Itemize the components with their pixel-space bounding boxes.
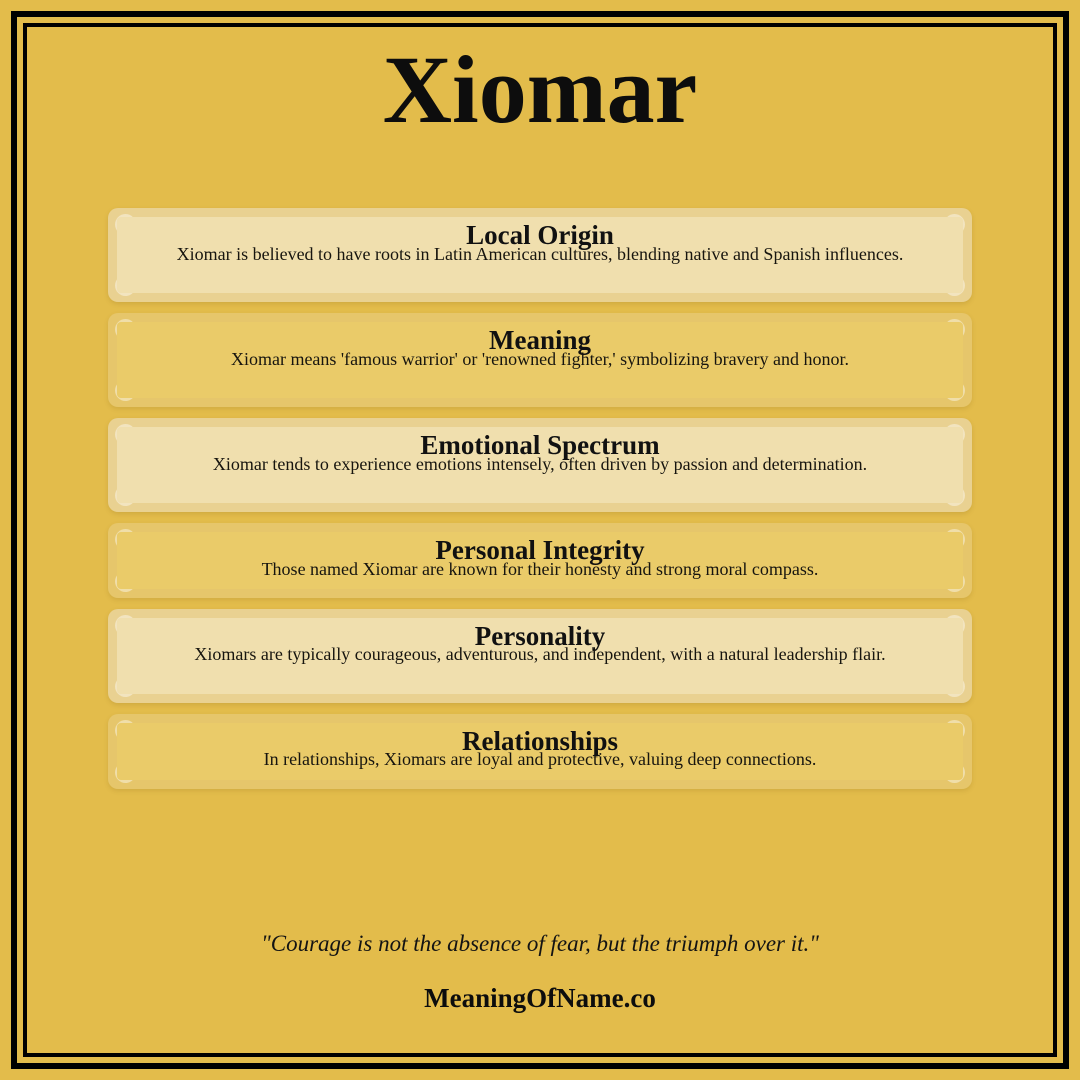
info-card-local-origin: Local Origin Xiomar is believed to have … (108, 208, 972, 302)
info-card-inner: Relationships In relationships, Xiomars … (117, 723, 963, 780)
name-meaning-poster: Xiomar Local Origin Xiomar is believed t… (0, 0, 1080, 1080)
info-card-inner: Emotional Spectrum Xiomar tends to exper… (117, 427, 963, 503)
info-card-body: Xiomar is believed to have roots in Lati… (143, 244, 937, 265)
info-card-inner: Personal Integrity Those named Xiomar ar… (117, 532, 963, 589)
info-card-personal-integrity: Personal Integrity Those named Xiomar ar… (108, 523, 972, 598)
info-card-body: Those named Xiomar are known for their h… (143, 559, 937, 580)
page-title: Xiomar (0, 36, 1080, 144)
info-card-inner: Local Origin Xiomar is believed to have … (117, 217, 963, 293)
poster-footer: "Courage is not the absence of fear, but… (0, 930, 1080, 1013)
info-card-meaning: Meaning Xiomar means 'famous warrior' or… (108, 313, 972, 407)
info-card-body: In relationships, Xiomars are loyal and … (143, 749, 937, 770)
info-card-body: Xiomar means 'famous warrior' or 'renown… (143, 349, 937, 370)
footer-quote: "Courage is not the absence of fear, but… (0, 930, 1080, 958)
info-card-inner: Meaning Xiomar means 'famous warrior' or… (117, 322, 963, 398)
info-card-list: Local Origin Xiomar is believed to have … (108, 208, 972, 800)
info-card-personality: Personality Xiomars are typically courag… (108, 609, 972, 703)
info-card-emotional-spectrum: Emotional Spectrum Xiomar tends to exper… (108, 418, 972, 512)
info-card-body: Xiomars are typically courageous, advent… (143, 644, 937, 665)
footer-brand: MeaningOfName.co (0, 984, 1080, 1014)
info-card-body: Xiomar tends to experience emotions inte… (143, 454, 937, 475)
info-card-relationships: Relationships In relationships, Xiomars … (108, 714, 972, 789)
info-card-inner: Personality Xiomars are typically courag… (117, 618, 963, 694)
